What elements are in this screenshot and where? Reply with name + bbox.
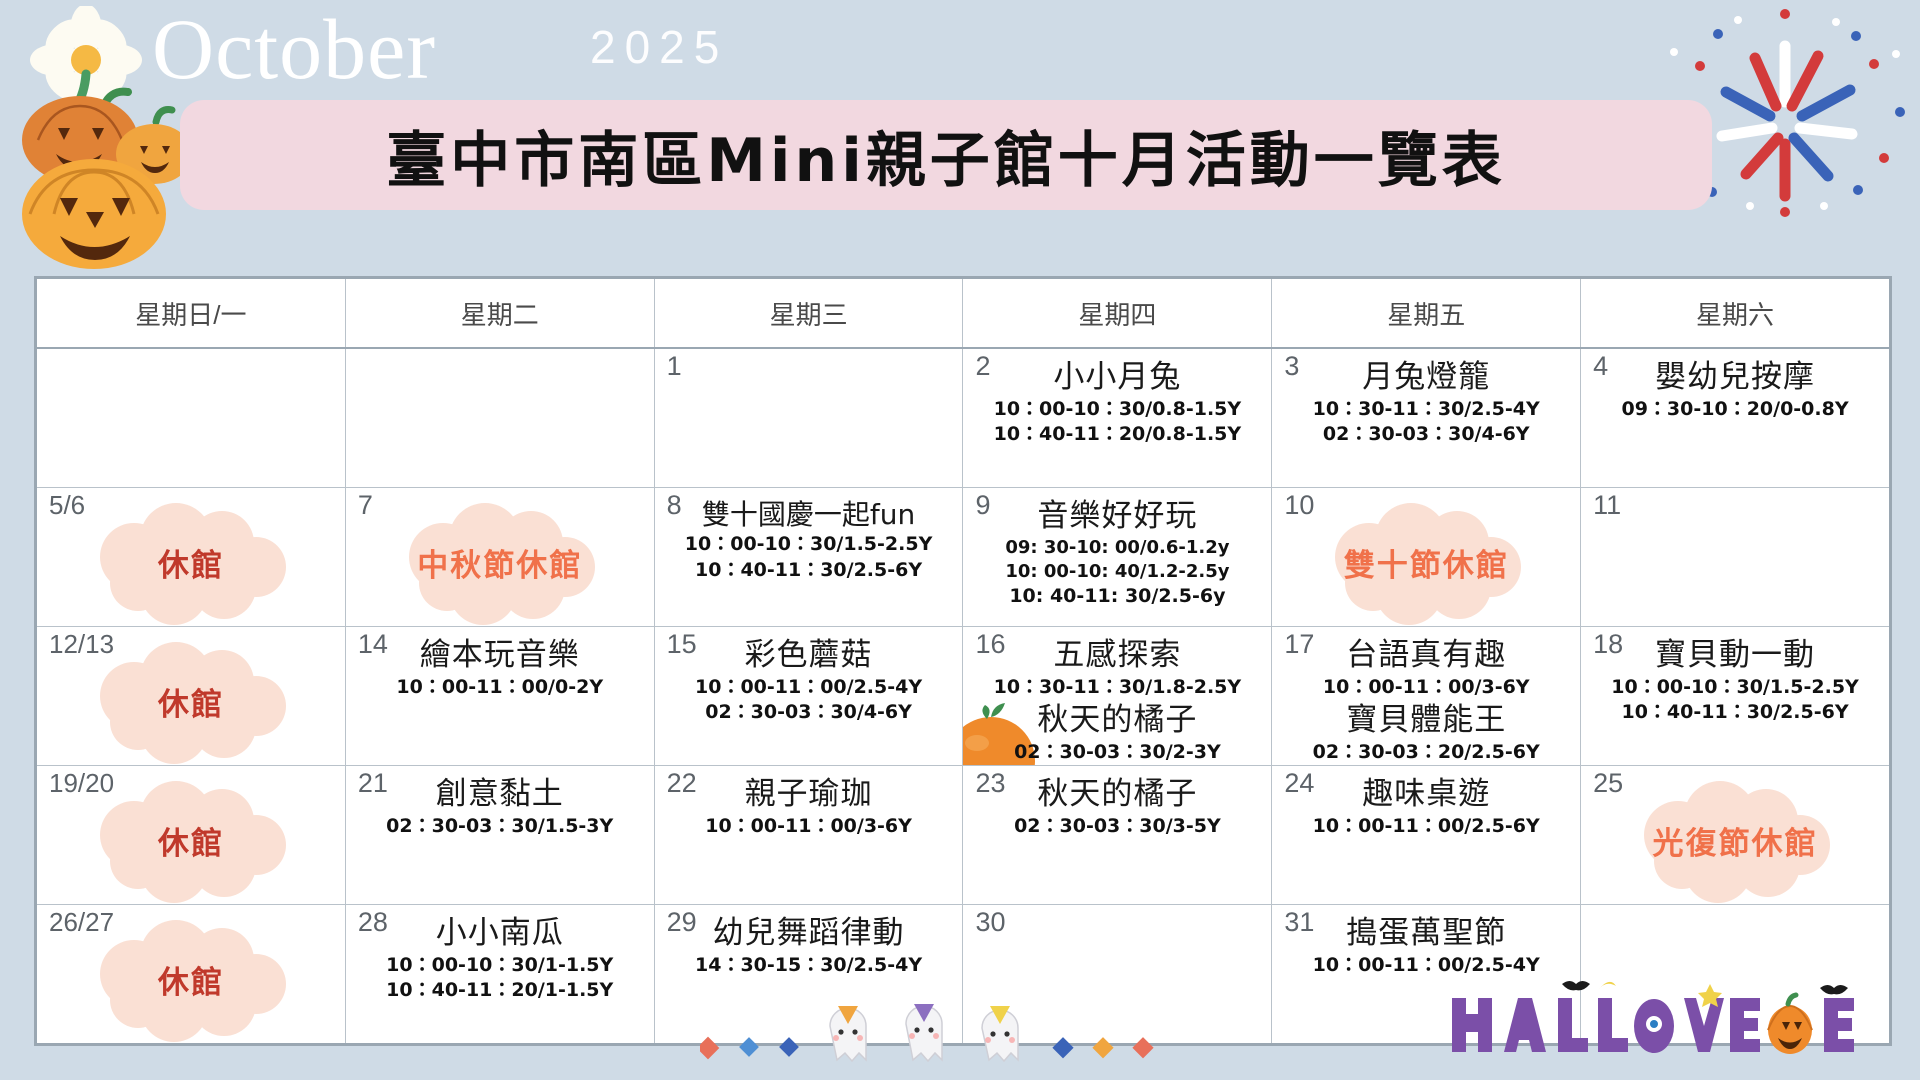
calendar-day-cell[interactable]: 24趣味桌遊10：00-11：00/2.5-6Y: [1272, 766, 1581, 904]
day-number: 2: [975, 353, 990, 380]
closed-day-badge: 休館: [37, 931, 345, 1028]
closed-label: 休館: [158, 818, 224, 863]
day-events: 親子瑜珈10：00-11：00/3-6Y: [661, 772, 957, 839]
day-events: 台語真有趣10：00-11：00/3-6Y寶貝體能王02：30-03：20/2.…: [1278, 633, 1574, 765]
cloud-shape: 雙十節休館: [1310, 514, 1543, 611]
closed-day-badge: 休館: [37, 514, 345, 611]
weekday-header-1: 星期二: [346, 279, 655, 347]
day-number: 12/13: [49, 631, 114, 657]
calendar-body: 12小小月兔10：00-10：30/0.8-1.5Y10：40-11：20/0.…: [37, 349, 1889, 1043]
day-number: 30: [975, 909, 1005, 936]
day-events: 月兔燈籠10：30-11：30/2.5-4Y02：30-03：30/4-6Y: [1278, 355, 1574, 448]
event-time: 10：40-11：20/1-1.5Y: [386, 978, 613, 1004]
day-number: 16: [975, 631, 1005, 658]
calendar-day-cell[interactable]: 28小小南瓜10：00-10：30/1-1.5Y10：40-11：20/1-1.…: [346, 905, 655, 1043]
event-title: 親子瑜珈: [745, 776, 873, 814]
weekday-header-row: 星期日/一星期二星期三星期四星期五星期六: [37, 279, 1889, 349]
day-events: 雙十國慶一起fun10：00-10：30/1.5-2.5Y10：40-11：30…: [661, 494, 957, 583]
ghost-icon: [700, 998, 1220, 1078]
event-time: 10：00-10：30/0.8-1.5Y: [994, 397, 1242, 423]
calendar-day-cell[interactable]: 12/13休館: [37, 627, 346, 765]
event-time: 10：30-11：30/1.8-2.5Y: [994, 675, 1242, 701]
day-number: 10: [1284, 492, 1314, 519]
calendar-day-cell[interactable]: [346, 349, 655, 487]
event-title: 繪本玩音樂: [420, 637, 580, 675]
day-number: 1: [667, 353, 682, 380]
day-events: 彩色蘑菇10：00-11：00/2.5-4Y02：30-03：30/4-6Y: [661, 633, 957, 726]
event-time: 02：30-03：30/4-6Y: [705, 700, 912, 726]
event-title: 趣味桌遊: [1362, 776, 1490, 814]
day-number: 17: [1284, 631, 1314, 658]
calendar-day-cell[interactable]: 11: [1581, 488, 1889, 626]
cloud-shape: 光復節休館: [1619, 792, 1852, 889]
closed-label: 休館: [158, 679, 224, 724]
event-time: 10：00-10：30/1.5-2.5Y: [1611, 675, 1859, 701]
day-events: 小小南瓜10：00-10：30/1-1.5Y10：40-11：20/1-1.5Y: [352, 911, 648, 1004]
calendar-day-cell[interactable]: 17台語真有趣10：00-11：00/3-6Y寶貝體能王02：30-03：20/…: [1272, 627, 1581, 765]
calendar-week-row: 12小小月兔10：00-10：30/0.8-1.5Y10：40-11：20/0.…: [37, 349, 1889, 488]
calendar-day-cell[interactable]: 7中秋節休館: [346, 488, 655, 626]
event-title: 幼兒舞蹈律動: [713, 915, 905, 953]
cloud-shape: 休館: [124, 514, 258, 611]
day-events: 秋天的橘子02：30-03：30/3-5Y: [969, 772, 1265, 839]
year-label: 2025: [590, 24, 728, 70]
event-time: 10：00-11：00/0-2Y: [396, 675, 603, 701]
event-title: 秋天的橘子: [1037, 776, 1197, 814]
cloud-shape: 休館: [124, 931, 258, 1028]
calendar-day-cell[interactable]: 4嬰幼兒按摩09：30-10：20/0-0.8Y: [1581, 349, 1889, 487]
calendar-day-cell[interactable]: 23秋天的橘子02：30-03：30/3-5Y: [963, 766, 1272, 904]
month-label: October: [152, 6, 436, 92]
calendar-week-row: 5/6休館7中秋節休館8雙十國慶一起fun10：00-10：30/1.5-2.5…: [37, 488, 1889, 627]
calendar-day-cell[interactable]: 16五感探索10：30-11：30/1.8-2.5Y秋天的橘子02：30-03：…: [963, 627, 1272, 765]
day-events: 小小月兔10：00-10：30/0.8-1.5Y10：40-11：20/0.8-…: [969, 355, 1265, 448]
event-title: 寶貝動一動: [1655, 637, 1815, 675]
event-title: 嬰幼兒按摩: [1655, 359, 1815, 397]
day-number: 9: [975, 492, 990, 519]
day-number: 5/6: [49, 492, 85, 518]
calendar-day-cell[interactable]: 5/6休館: [37, 488, 346, 626]
event-time: 02：30-03：20/2.5-6Y: [1313, 740, 1540, 765]
calendar-day-cell[interactable]: 15彩色蘑菇10：00-11：00/2.5-4Y02：30-03：30/4-6Y: [655, 627, 964, 765]
weekday-header-0: 星期日/一: [37, 279, 346, 347]
weekday-header-4: 星期五: [1272, 279, 1581, 347]
day-events: 搗蛋萬聖節10：00-11：00/2.5-4Y: [1278, 911, 1574, 978]
event-time: 10：00-10：30/1-1.5Y: [386, 953, 613, 979]
closed-label: 雙十節休館: [1344, 540, 1509, 585]
event-title: 小小南瓜: [436, 915, 564, 953]
closed-day-badge: 中秋節休館: [346, 514, 654, 611]
activity-calendar: 星期日/一星期二星期三星期四星期五星期六 12小小月兔10：00-10：30/0…: [34, 276, 1892, 1046]
calendar-day-cell[interactable]: 18寶貝動一動10：00-10：30/1.5-2.5Y10：40-11：30/2…: [1581, 627, 1889, 765]
calendar-day-cell[interactable]: 9音樂好好玩09: 30-10: 00/0.6-1.2y10: 00-10: 4…: [963, 488, 1272, 626]
event-title: 秋天的橘子: [1037, 702, 1197, 740]
event-title: 創意黏土: [436, 776, 564, 814]
day-number: 25: [1593, 770, 1623, 797]
calendar-day-cell[interactable]: 8雙十國慶一起fun10：00-10：30/1.5-2.5Y10：40-11：3…: [655, 488, 964, 626]
page-header: October 2025: [0, 0, 1920, 262]
day-events: 繪本玩音樂10：00-11：00/0-2Y: [352, 633, 648, 700]
event-title: 寶貝體能王: [1346, 702, 1506, 740]
event-time: 10：00-11：00/3-6Y: [1323, 675, 1530, 701]
closed-day-badge: 休館: [37, 792, 345, 889]
event-time: 10：00-11：00/2.5-4Y: [695, 675, 922, 701]
event-time: 02：30-03：30/2-3Y: [1014, 740, 1221, 765]
event-time: 02：30-03：30/1.5-3Y: [386, 814, 613, 840]
event-title: 搗蛋萬聖節: [1346, 915, 1506, 953]
calendar-day-cell[interactable]: 19/20休館: [37, 766, 346, 904]
calendar-day-cell[interactable]: [37, 349, 346, 487]
day-number: 7: [358, 492, 373, 519]
event-time: 10：30-11：30/2.5-4Y: [1313, 397, 1540, 423]
calendar-day-cell[interactable]: 22親子瑜珈10：00-11：00/3-6Y: [655, 766, 964, 904]
calendar-day-cell[interactable]: 26/27休館: [37, 905, 346, 1043]
closed-label: 休館: [158, 540, 224, 585]
event-title: 台語真有趣: [1346, 637, 1506, 675]
page-title: 臺中市南區Mini親子館十月活動一覽表: [180, 100, 1712, 210]
day-number: 3: [1284, 353, 1299, 380]
event-time: 10：00-10：30/1.5-2.5Y: [685, 532, 933, 558]
event-title: 五感探索: [1053, 637, 1181, 675]
day-number: 4: [1593, 353, 1608, 380]
calendar-week-row: 12/13休館14繪本玩音樂10：00-11：00/0-2Y15彩色蘑菇10：0…: [37, 627, 1889, 766]
day-number: 19/20: [49, 770, 114, 796]
event-time: 10: 40-11: 30/2.5-6y: [1009, 584, 1225, 610]
event-time: 09：30-10：20/0-0.8Y: [1621, 397, 1848, 423]
day-number: 29: [667, 909, 697, 936]
cloud-shape: 中秋節休館: [383, 514, 616, 611]
event-time: 10：40-11：20/0.8-1.5Y: [994, 422, 1242, 448]
closed-day-badge: 休館: [37, 653, 345, 750]
cloud-shape: 休館: [124, 792, 258, 889]
event-time: 10: 00-10: 40/1.2-2.5y: [1005, 560, 1229, 584]
event-time: 02：30-03：30/4-6Y: [1323, 422, 1530, 448]
event-title: 小小月兔: [1053, 359, 1181, 397]
halloween-wordmark: [1412, 980, 1882, 1080]
calendar-day-cell[interactable]: 3月兔燈籠10：30-11：30/2.5-4Y02：30-03：30/4-6Y: [1272, 349, 1581, 487]
day-number: 21: [358, 770, 388, 797]
day-events: 創意黏土02：30-03：30/1.5-3Y: [352, 772, 648, 839]
weekday-header-3: 星期四: [963, 279, 1272, 347]
event-time: 14：30-15：30/2.5-4Y: [695, 953, 922, 979]
day-number: 18: [1593, 631, 1623, 658]
event-time: 02：30-03：30/3-5Y: [1014, 814, 1221, 840]
event-title: 月兔燈籠: [1362, 359, 1490, 397]
event-time: 10：00-11：00/2.5-6Y: [1313, 814, 1540, 840]
day-number: 22: [667, 770, 697, 797]
event-title: 音樂好好玩: [1037, 498, 1197, 536]
event-time: 09: 30-10: 00/0.6-1.2y: [1005, 536, 1229, 560]
day-events: 寶貝動一動10：00-10：30/1.5-2.5Y10：40-11：30/2.5…: [1587, 633, 1883, 726]
day-number: 14: [358, 631, 388, 658]
day-number: 26/27: [49, 909, 114, 935]
event-time: 10：40-11：30/2.5-6Y: [1621, 700, 1848, 726]
closed-label: 光復節休館: [1653, 818, 1818, 863]
day-events: 嬰幼兒按摩09：30-10：20/0-0.8Y: [1587, 355, 1883, 422]
day-number: 11: [1593, 492, 1621, 519]
calendar-day-cell[interactable]: 14繪本玩音樂10：00-11：00/0-2Y: [346, 627, 655, 765]
event-title: 彩色蘑菇: [745, 637, 873, 675]
day-number: 31: [1284, 909, 1314, 936]
calendar-day-cell[interactable]: 21創意黏土02：30-03：30/1.5-3Y: [346, 766, 655, 904]
day-number: 28: [358, 909, 388, 936]
day-number: 23: [975, 770, 1005, 797]
event-time: 10：40-11：30/2.5-6Y: [695, 558, 922, 584]
day-events: 趣味桌遊10：00-11：00/2.5-6Y: [1278, 772, 1574, 839]
event-time: 10：00-11：00/2.5-4Y: [1313, 953, 1540, 979]
closed-day-badge: 雙十節休館: [1272, 514, 1580, 611]
calendar-day-cell[interactable]: 25光復節休館: [1581, 766, 1889, 904]
day-number: 24: [1284, 770, 1314, 797]
calendar-week-row: 19/20休館21創意黏土02：30-03：30/1.5-3Y22親子瑜珈10：…: [37, 766, 1889, 905]
day-events: 五感探索10：30-11：30/1.8-2.5Y秋天的橘子02：30-03：30…: [969, 633, 1265, 765]
calendar-day-cell[interactable]: 2小小月兔10：00-10：30/0.8-1.5Y10：40-11：20/0.8…: [963, 349, 1272, 487]
event-title: 雙十國慶一起fun: [702, 498, 915, 532]
cloud-shape: 休館: [124, 653, 258, 750]
calendar-day-cell[interactable]: 1: [655, 349, 964, 487]
day-number: 8: [667, 492, 682, 519]
closed-day-badge: 光復節休館: [1581, 792, 1889, 889]
day-events: 幼兒舞蹈律動14：30-15：30/2.5-4Y: [661, 911, 957, 978]
event-time: 10：00-11：00/3-6Y: [705, 814, 912, 840]
day-events: 音樂好好玩09: 30-10: 00/0.6-1.2y10: 00-10: 40…: [969, 494, 1265, 610]
weekday-header-2: 星期三: [655, 279, 964, 347]
calendar-day-cell[interactable]: 10雙十節休館: [1272, 488, 1581, 626]
weekday-header-5: 星期六: [1581, 279, 1889, 347]
day-number: 15: [667, 631, 697, 658]
closed-label: 中秋節休館: [417, 540, 582, 585]
closed-label: 休館: [158, 957, 224, 1002]
